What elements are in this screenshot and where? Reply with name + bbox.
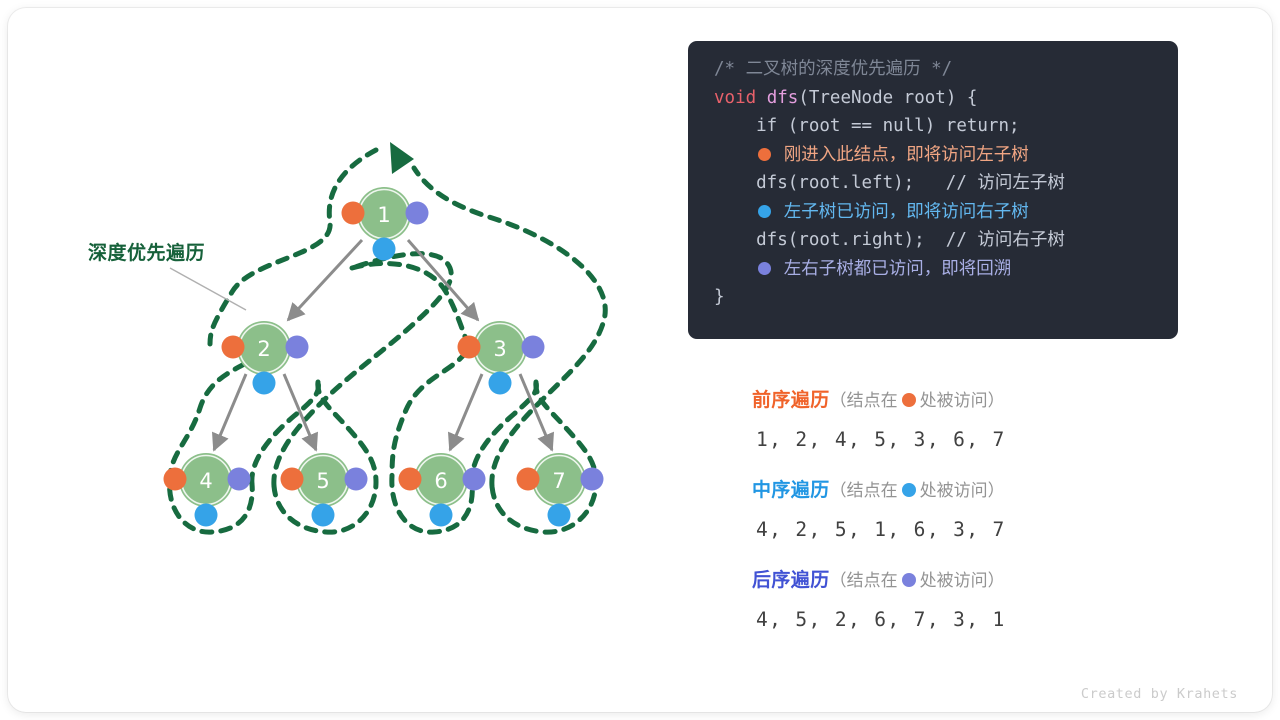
pre-order-dot xyxy=(164,468,187,491)
traversal-sequence: 4, 2, 5, 1, 6, 3, 7 xyxy=(752,506,1182,553)
edge-2-4 xyxy=(214,374,246,450)
node-label: 6 xyxy=(434,469,447,493)
code-line-signature: void dfs(TreeNode root) { xyxy=(714,84,1156,113)
tree-node[interactable]: 5 xyxy=(281,453,368,527)
path-back-to-root-right xyxy=(274,254,451,486)
traversal-desc-open: （结点在 xyxy=(830,481,898,501)
code-line-comment: /* 二叉树的深度优先遍历 */ xyxy=(714,55,1156,84)
code-note-pre: 刚进入此结点，即将访问左子树 xyxy=(784,145,1029,165)
code-call-left: dfs(root.left); // 访问左子树 xyxy=(714,173,1065,193)
in-order-dot xyxy=(373,238,396,261)
code-close-brace: } xyxy=(714,287,725,307)
code-keyword-void: void xyxy=(714,88,756,108)
code-note-in: 左子树已访问，即将访问右子树 xyxy=(784,202,1029,222)
node-label: 3 xyxy=(493,337,506,361)
in-order-dot-icon xyxy=(758,205,771,218)
in-order-dot xyxy=(430,504,453,527)
post-order-dot xyxy=(406,202,429,225)
node-label: 7 xyxy=(552,469,565,493)
code-line-note-post: 左右子树都已访问，即将回溯 xyxy=(714,255,1156,284)
in-order-dot xyxy=(312,504,335,527)
code-line-note-pre: 刚进入此结点，即将访问左子树 xyxy=(714,141,1156,170)
post-order-dot xyxy=(581,468,604,491)
traversal-results: 前序遍历（结点在处被访问） 1, 2, 4, 5, 3, 6, 7 中序遍历（结… xyxy=(752,385,1182,655)
code-line-close: } xyxy=(714,283,1156,312)
edge-3-6 xyxy=(450,374,482,450)
traversal-desc-open: （结点在 xyxy=(830,571,898,591)
pre-order-dot xyxy=(342,202,365,225)
tree-svg: 1 2 3 xyxy=(0,0,680,720)
code-signature-rest: (TreeNode root) { xyxy=(798,88,977,108)
in-order-dot-icon xyxy=(902,483,916,497)
traversal-sequence: 4, 5, 2, 6, 7, 3, 1 xyxy=(752,596,1182,643)
result-heading: 前序遍历（结点在处被访问） xyxy=(752,385,1182,416)
traversal-desc-open: （结点在 xyxy=(830,391,898,411)
node-label: 2 xyxy=(257,337,270,361)
traversal-kind-label: 前序遍历 xyxy=(752,389,830,411)
traversal-sequence: 1, 2, 4, 5, 3, 6, 7 xyxy=(752,416,1182,463)
tree-diagram: 1 2 3 xyxy=(0,0,680,720)
start-arrow-icon xyxy=(390,142,414,174)
traversal-desc-close: 处被访问） xyxy=(920,481,1005,501)
pre-order-dot xyxy=(281,468,304,491)
figure-canvas: 1 2 3 xyxy=(0,0,1280,720)
tree-node[interactable]: 3 xyxy=(458,321,545,395)
result-group-inorder: 中序遍历（结点在处被访问） 4, 2, 5, 1, 6, 3, 7 xyxy=(752,475,1182,553)
pre-order-dot xyxy=(458,336,481,359)
post-order-dot xyxy=(345,468,368,491)
post-order-dot xyxy=(286,336,309,359)
edge-1-3 xyxy=(408,240,478,320)
pre-order-dot xyxy=(222,336,245,359)
result-group-preorder: 前序遍历（结点在处被访问） 1, 2, 4, 5, 3, 6, 7 xyxy=(752,385,1182,463)
code-fn-dfs: dfs xyxy=(767,88,799,108)
pre-order-dot-icon xyxy=(758,148,771,161)
post-order-dot xyxy=(228,468,251,491)
pre-order-dot xyxy=(399,468,422,491)
node-label: 5 xyxy=(316,469,329,493)
traversal-kind-label: 中序遍历 xyxy=(752,479,830,501)
path-root-to-right-sub xyxy=(352,263,468,344)
code-call-right: dfs(root.right); // 访问右子树 xyxy=(714,230,1065,250)
result-heading: 后序遍历（结点在处被访问） xyxy=(752,565,1182,596)
post-order-dot xyxy=(522,336,545,359)
code-note-post: 左右子树都已访问，即将回溯 xyxy=(784,259,1012,279)
tree-node[interactable]: 2 xyxy=(222,321,309,395)
dfs-title-label: 深度优先遍历 xyxy=(88,238,205,265)
result-heading: 中序遍历（结点在处被访问） xyxy=(752,475,1182,506)
in-order-dot xyxy=(253,372,276,395)
traversal-desc-close: 处被访问） xyxy=(920,391,1005,411)
code-line-left: dfs(root.left); // 访问左子树 xyxy=(714,169,1156,198)
path-node7-loop xyxy=(492,382,596,532)
post-order-dot-icon xyxy=(758,262,771,275)
pre-order-dot-icon xyxy=(902,393,916,407)
in-order-dot xyxy=(489,372,512,395)
code-block: /* 二叉树的深度优先遍历 */void dfs(TreeNode root) … xyxy=(688,41,1178,339)
code-line-right: dfs(root.right); // 访问右子树 xyxy=(714,226,1156,255)
code-comment-header: /* 二叉树的深度优先遍历 */ xyxy=(714,59,952,79)
in-order-dot xyxy=(195,504,218,527)
code-line-note-in: 左子树已访问，即将访问右子树 xyxy=(714,198,1156,227)
code-nullcheck-text: if (root == null) return; xyxy=(714,116,1020,136)
node-label: 1 xyxy=(377,203,390,227)
result-group-postorder: 后序遍历（结点在处被访问） 4, 5, 2, 6, 7, 3, 1 xyxy=(752,565,1182,643)
traversal-kind-label: 后序遍历 xyxy=(752,569,830,591)
code-line-nullcheck: if (root == null) return; xyxy=(714,112,1156,141)
node-label: 4 xyxy=(199,469,212,493)
traversal-desc-close: 处被访问） xyxy=(920,571,1005,591)
post-order-dot xyxy=(463,468,486,491)
post-order-dot-icon xyxy=(902,573,916,587)
pre-order-dot xyxy=(517,468,540,491)
credit-text: Created by Krahets xyxy=(1081,686,1238,702)
in-order-dot xyxy=(548,504,571,527)
